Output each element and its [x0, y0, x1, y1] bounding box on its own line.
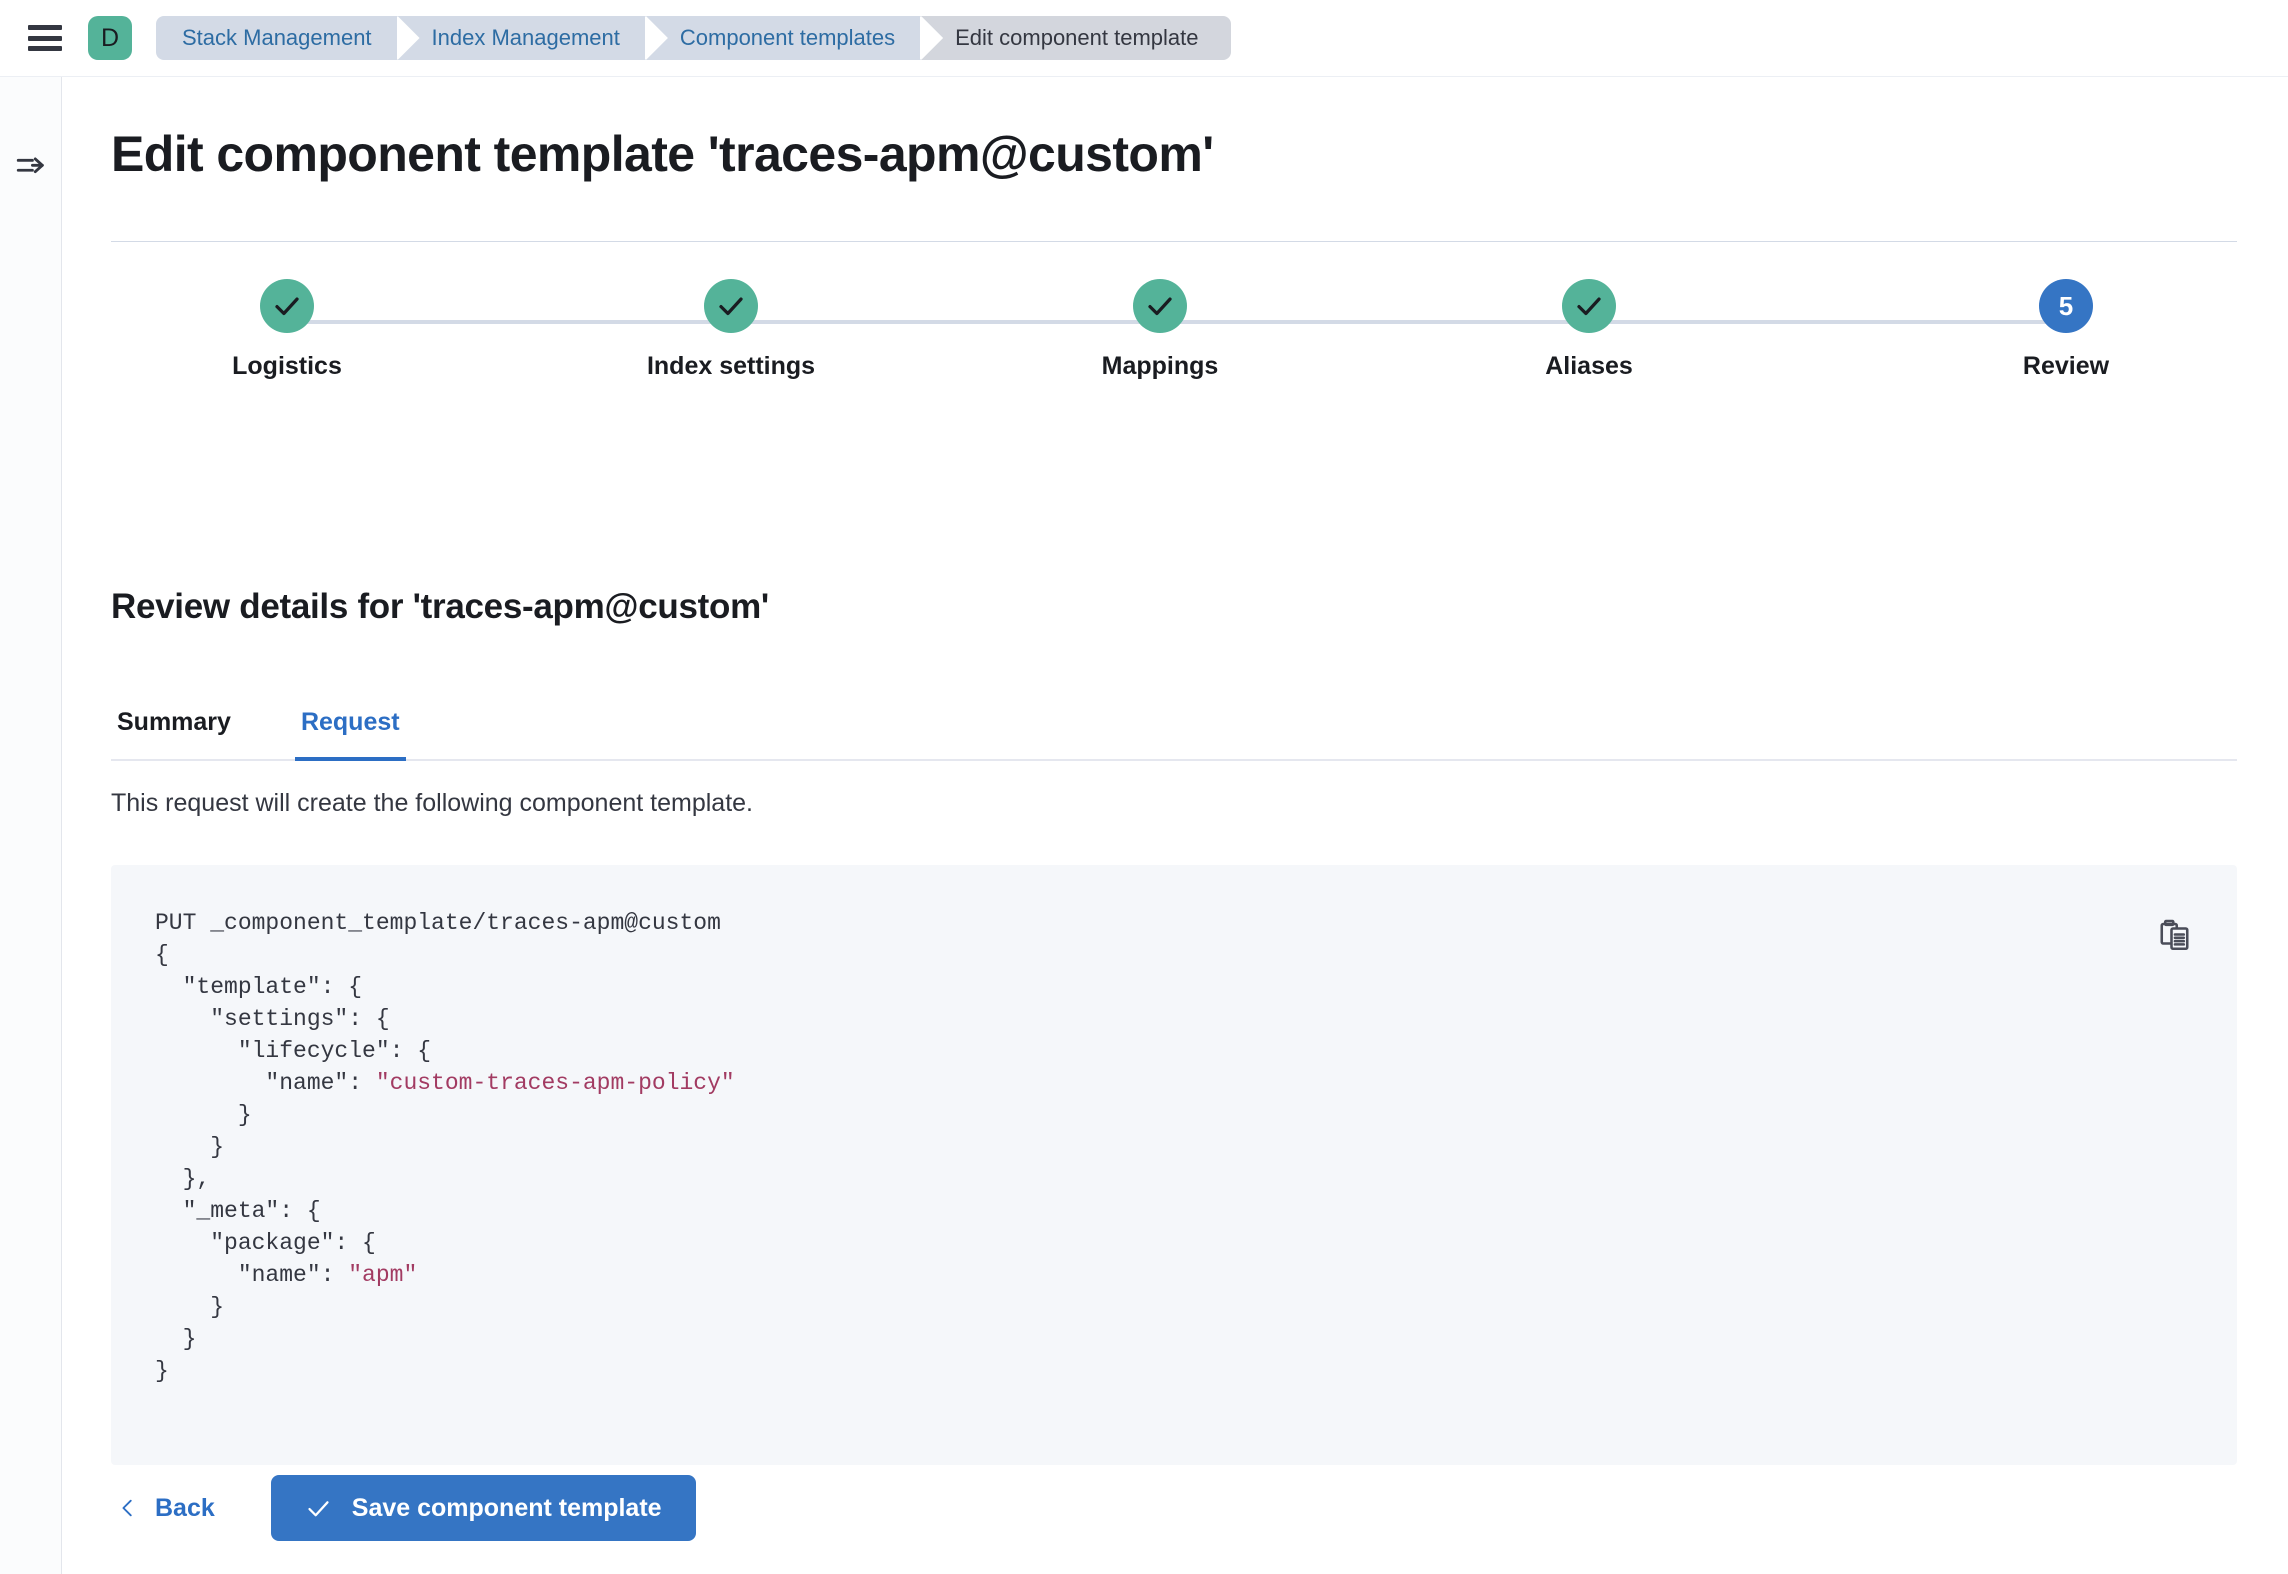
request-code-text: PUT _component_template/traces-apm@custo… [155, 907, 735, 1387]
step-marker-done [1133, 279, 1187, 333]
code-line: "settings": { [155, 1006, 390, 1032]
breadcrumb-item-stack-management[interactable]: Stack Management [156, 16, 398, 60]
breadcrumb-label: Index Management [432, 25, 620, 51]
request-description: This request will create the following c… [111, 789, 753, 818]
code-string-value: "apm" [348, 1262, 417, 1288]
code-line: { [155, 942, 169, 968]
stepper-label: Review [2023, 352, 2109, 381]
stepper-label: Mappings [1102, 352, 1219, 381]
request-code-block: PUT _component_template/traces-apm@custo… [111, 865, 2237, 1465]
check-icon [1145, 291, 1175, 321]
stepper-step-index-settings[interactable]: Index settings [566, 279, 896, 381]
stepper-label: Aliases [1545, 352, 1633, 381]
wizard-actions: Back Save component template [111, 1475, 696, 1541]
avatar[interactable]: D [88, 16, 132, 60]
stepper-step-logistics[interactable]: Logistics [122, 279, 452, 381]
check-icon [1574, 291, 1604, 321]
copy-icon-glyph [2158, 918, 2194, 954]
step-number: 5 [2059, 291, 2073, 322]
top-navigation-bar: D Stack Management Index Management Comp… [0, 0, 2288, 77]
left-sidebar-rail [0, 77, 62, 1574]
stepper-label: Logistics [232, 352, 342, 381]
check-icon [716, 291, 746, 321]
code-line: "template": { [155, 974, 362, 1000]
code-line: "lifecycle": { [155, 1038, 431, 1064]
hamburger-bar [28, 25, 62, 30]
tab-label: Request [301, 708, 400, 737]
breadcrumb-label: Edit component template [955, 25, 1198, 51]
breadcrumb: Stack Management Index Management Compon… [156, 16, 1231, 60]
check-icon [305, 1495, 332, 1522]
back-button-label: Back [155, 1494, 215, 1523]
breadcrumb-item-index-management[interactable]: Index Management [398, 16, 646, 60]
code-line: } [155, 1102, 252, 1128]
breadcrumb-label: Component templates [680, 25, 895, 51]
code-string-value: "custom-traces-apm-policy" [376, 1070, 735, 1096]
tab-request[interactable]: Request [295, 685, 406, 759]
breadcrumb-item-component-templates[interactable]: Component templates [646, 16, 921, 60]
app-root: D Stack Management Index Management Comp… [0, 0, 2288, 1574]
title-divider [111, 241, 2237, 242]
code-line: } [155, 1134, 224, 1160]
tab-summary[interactable]: Summary [111, 685, 237, 759]
code-line: } [155, 1326, 196, 1352]
breadcrumb-chevron-icon [645, 16, 667, 60]
review-tabs: Summary Request [111, 685, 2237, 761]
code-line: } [155, 1358, 169, 1384]
breadcrumb-label: Stack Management [182, 25, 372, 51]
hamburger-bar [28, 46, 62, 51]
wizard-stepper: Logistics Index settings Mappings [111, 279, 2237, 409]
back-button[interactable]: Back [111, 1486, 229, 1531]
stepper-step-mappings[interactable]: Mappings [995, 279, 1325, 381]
step-marker-current: 5 [2039, 279, 2093, 333]
stepper-step-review[interactable]: 5 Review [1901, 279, 2231, 381]
code-line: } [155, 1294, 224, 1320]
step-marker-done [260, 279, 314, 333]
expand-arrow-icon[interactable] [14, 149, 48, 183]
stepper-step-aliases[interactable]: Aliases [1424, 279, 1754, 381]
save-button-label: Save component template [352, 1494, 662, 1523]
save-component-template-button[interactable]: Save component template [271, 1475, 696, 1541]
code-line: "_meta": { [155, 1198, 321, 1224]
hamburger-menu-icon[interactable] [28, 25, 62, 51]
breadcrumb-chevron-icon [397, 16, 419, 60]
step-marker-done [1562, 279, 1616, 333]
copy-clipboard-icon[interactable] [2155, 915, 2197, 957]
code-line-indent: "name": [155, 1262, 348, 1288]
tab-label: Summary [117, 708, 231, 737]
stepper-label: Index settings [647, 352, 815, 381]
page-title: Edit component template 'traces-apm@cust… [111, 125, 1214, 183]
breadcrumb-item-edit-component-template: Edit component template [921, 16, 1230, 60]
code-line: PUT _component_template/traces-apm@custo… [155, 910, 721, 936]
section-title: Review details for 'traces-apm@custom' [111, 587, 769, 627]
code-line: "package": { [155, 1230, 376, 1256]
step-marker-done [704, 279, 758, 333]
hamburger-bar [28, 36, 62, 41]
code-line: }, [155, 1166, 210, 1192]
code-line-indent: "name": [155, 1070, 376, 1096]
main-content-panel: Edit component template 'traces-apm@cust… [63, 77, 2288, 1574]
chevron-left-icon [117, 1495, 139, 1521]
breadcrumb-chevron-icon [920, 16, 942, 60]
check-icon [272, 291, 302, 321]
